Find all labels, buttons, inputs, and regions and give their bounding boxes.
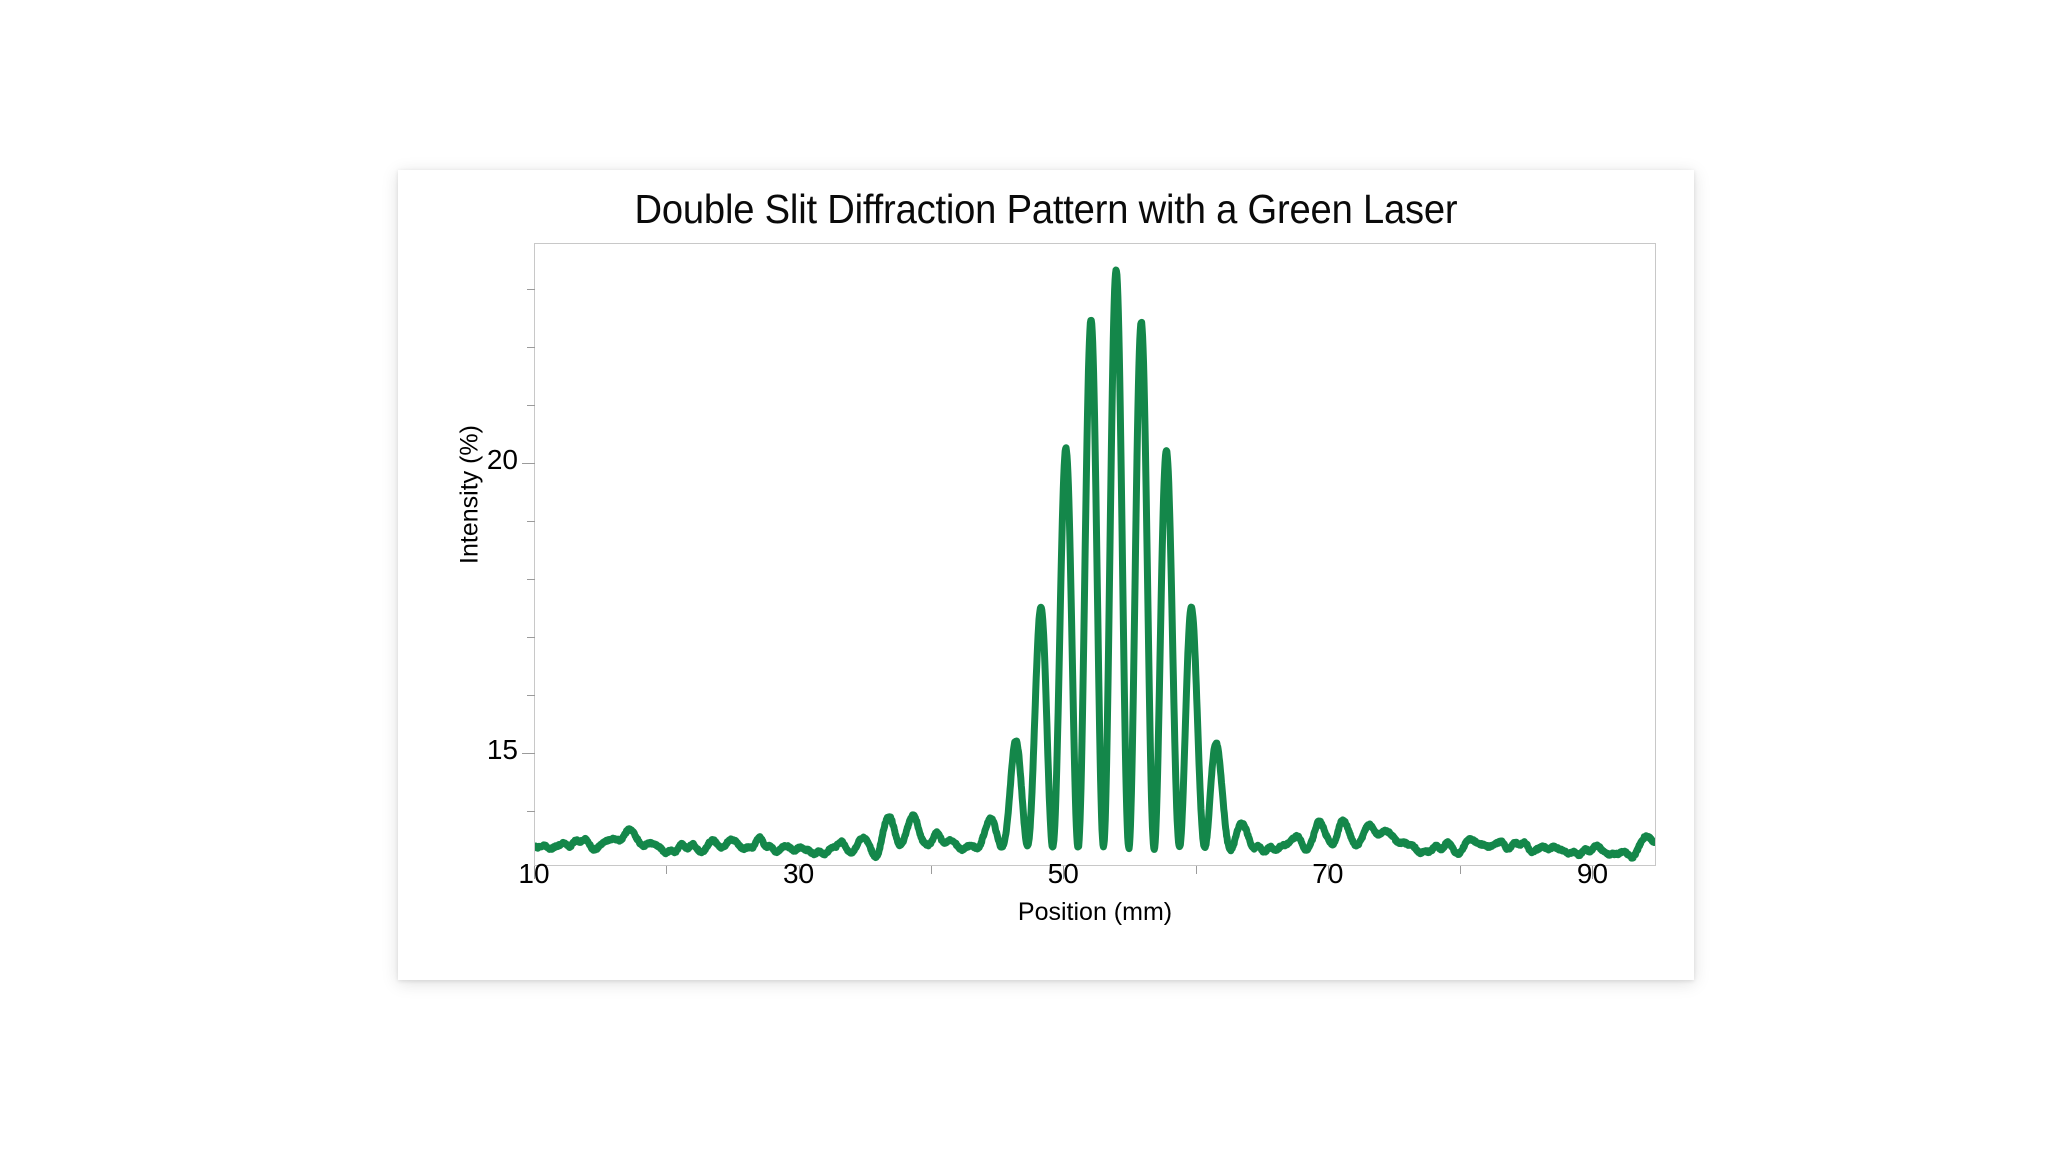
y-tick-major: [522, 463, 535, 464]
x-tick-minor: [1196, 866, 1197, 874]
chart-card: Double Slit Diffraction Pattern with a G…: [398, 170, 1694, 980]
x-tick-label: 90: [1552, 858, 1632, 890]
y-tick-label: 15: [454, 734, 518, 766]
screenshot-stage: Double Slit Diffraction Pattern with a G…: [0, 0, 2048, 1152]
chart-title: Double Slit Diffraction Pattern with a G…: [443, 186, 1648, 233]
y-tick-minor: [527, 405, 535, 406]
y-tick-minor: [527, 811, 535, 812]
x-axis-label: Position (mm): [534, 898, 1656, 927]
y-tick-minor: [527, 347, 535, 348]
x-tick-label: 30: [759, 858, 839, 890]
y-tick-minor: [527, 637, 535, 638]
x-tick-minor: [931, 866, 932, 874]
x-tick-label: 10: [494, 858, 574, 890]
intensity-trace: [535, 244, 1655, 865]
y-tick-minor: [527, 579, 535, 580]
x-tick-minor: [666, 866, 667, 874]
y-tick-minor: [527, 695, 535, 696]
plot-area: [534, 243, 1656, 866]
y-axis-label: Intensity (%): [456, 295, 485, 695]
y-tick-minor: [527, 289, 535, 290]
x-tick-label: 70: [1288, 858, 1368, 890]
x-tick-minor: [1460, 866, 1461, 874]
y-tick-major: [522, 753, 535, 754]
y-tick-minor: [527, 521, 535, 522]
x-tick-label: 50: [1023, 858, 1103, 890]
